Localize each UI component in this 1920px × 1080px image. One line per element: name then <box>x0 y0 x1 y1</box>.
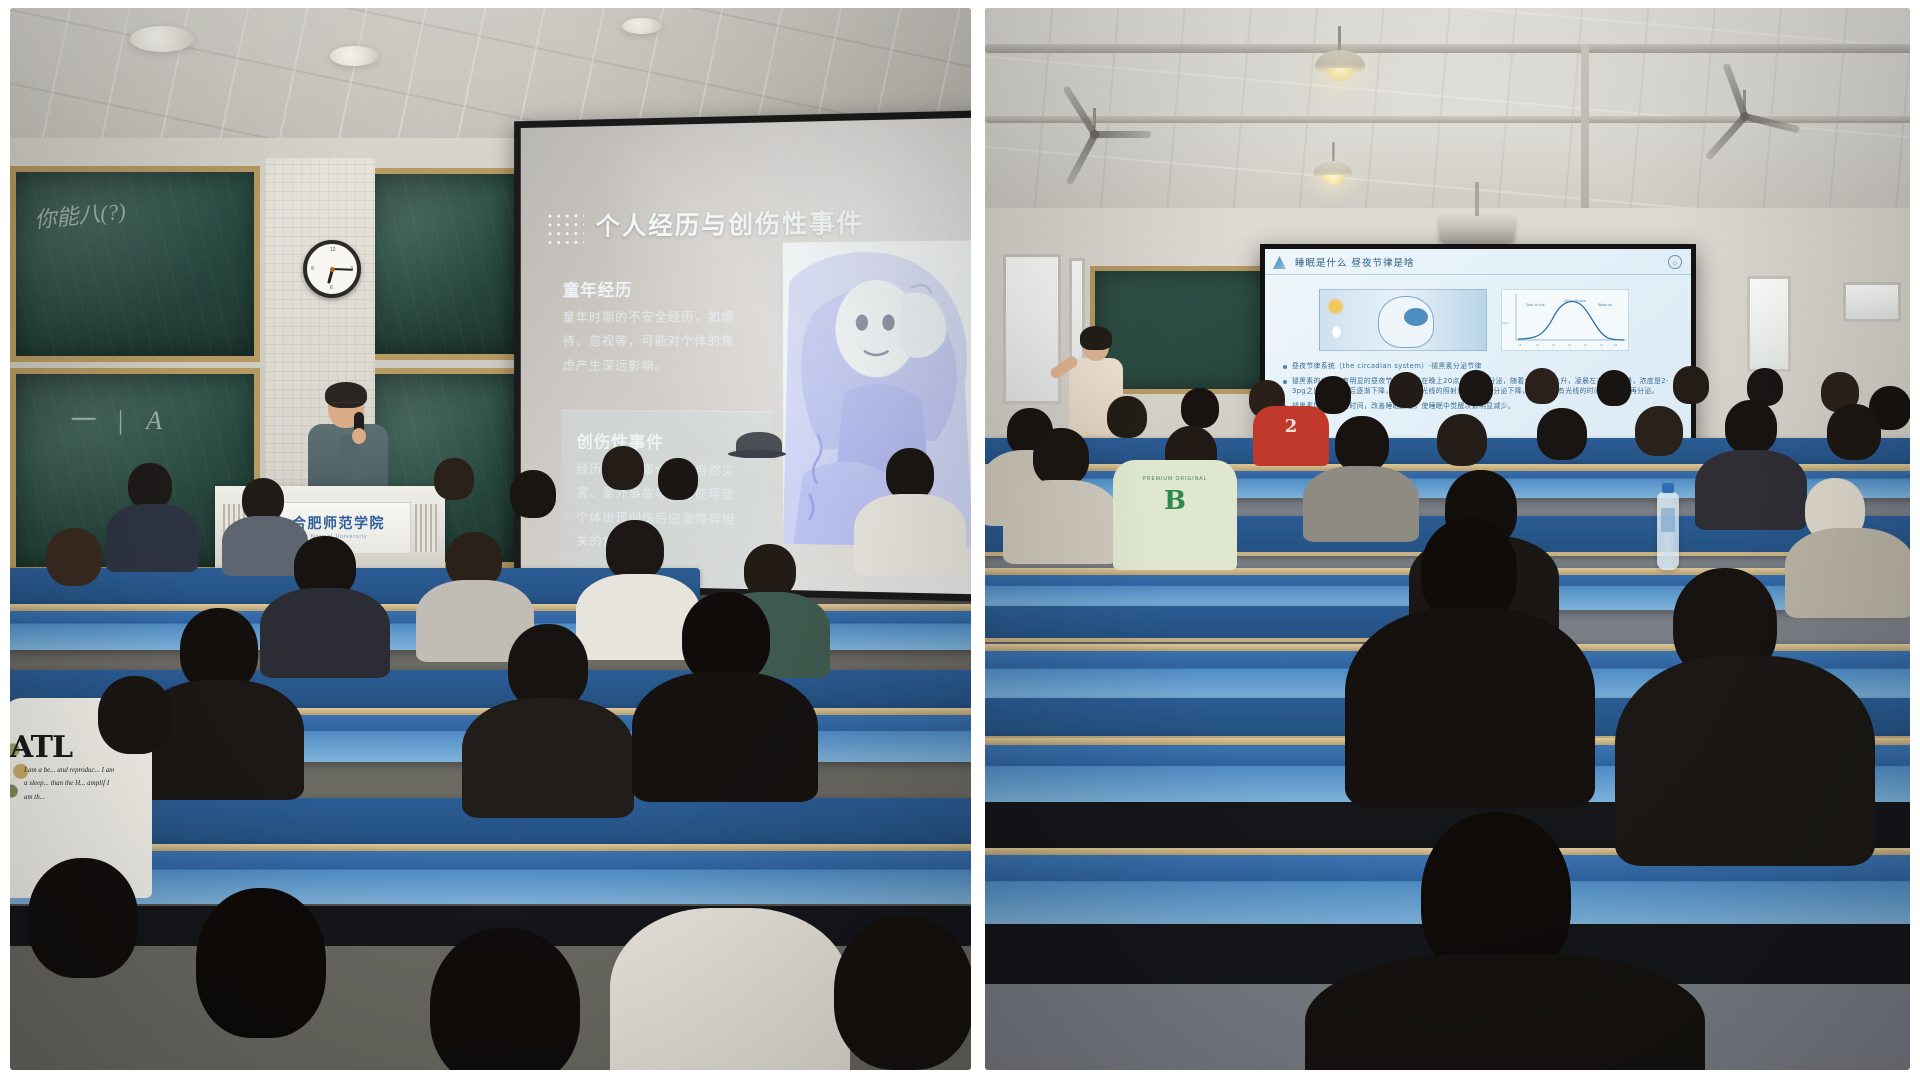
photo-collage: 你能八(?) 一 | A 12 3 6 9 个人经历与创伤性事件 童年经历 童年… <box>0 0 1920 1080</box>
wall-clock: 12 3 6 9 <box>303 240 361 298</box>
podium-institution-cn: 合肥师范学院 <box>292 517 385 531</box>
ceiling-light-icon <box>130 26 194 52</box>
window <box>1843 282 1901 322</box>
audience-body <box>1695 450 1807 530</box>
brain-icon <box>1404 308 1428 326</box>
audience-green-tee: PREMIUM ORIGINAL B <box>1113 460 1237 570</box>
chalkboard-left: 你能八(?) <box>10 166 260 362</box>
audience-head <box>196 888 326 1038</box>
melatonin-curve-chart: Start of rise Sleep window Wake-up 18202… <box>1501 289 1629 351</box>
bullet-text: 昼夜节律系统（the circadian system）-褪黑素分泌节律 <box>1292 361 1482 372</box>
slide-bullet: 昼夜节律系统（the circadian system）-褪黑素分泌节律 <box>1283 361 1683 372</box>
audience-head <box>1827 404 1881 460</box>
tshirt-gothic-text: ATL <box>10 730 72 765</box>
water-bottle <box>1657 492 1679 570</box>
audience-body <box>1785 528 1910 618</box>
audience-head <box>1315 376 1351 414</box>
audience-head <box>606 520 664 580</box>
audience-red-shirt: 2 <box>1253 406 1329 466</box>
audience-head <box>128 463 172 509</box>
right-photo: 睡眠是什么 昼夜节律是啥 ☼ Start of rise <box>985 8 1910 1070</box>
audience-head <box>1525 368 1559 404</box>
audience-head <box>98 676 172 754</box>
clock-center-pin <box>330 267 335 272</box>
slide-section-1-body: 童年时期的不安全经历，如虐待、忽视等，可能对个体的焦虑产生深远影响。 <box>563 305 737 378</box>
ceiling-light-icon <box>330 46 378 66</box>
pendant-lamp-icon <box>1315 26 1365 86</box>
audience-body <box>1303 466 1419 542</box>
svg-text:Start of rise: Start of rise <box>1526 303 1545 307</box>
tshirt-script-text: I am a be... and reproduc... I am a slee… <box>24 764 116 804</box>
svg-text:04: 04 <box>1600 343 1604 347</box>
audience-body <box>854 494 966 576</box>
audience-body <box>462 698 634 818</box>
circadian-illustration <box>1319 289 1487 351</box>
audience-body <box>610 908 850 1070</box>
audience-body-foreground <box>1305 954 1705 1070</box>
audience-head <box>682 592 770 684</box>
left-photo: 你能八(?) 一 | A 12 3 6 9 个人经历与创伤性事件 童年经历 童年… <box>10 8 971 1070</box>
audience-head <box>834 916 971 1070</box>
audience-body <box>260 588 390 678</box>
ceiling-fan-icon <box>1035 126 1155 142</box>
audience-head <box>28 858 138 978</box>
audience-head <box>430 928 580 1070</box>
audience-head <box>602 446 644 490</box>
audience-body-foreground <box>1345 608 1595 808</box>
chalk-note: 你能八(?) <box>33 193 127 234</box>
chalk-note: 一 | A <box>68 400 170 437</box>
tee-subtext: PREMIUM ORIGINAL <box>1143 476 1208 482</box>
audience-head <box>1181 388 1219 428</box>
audience-head <box>1725 400 1777 454</box>
slide-title: 睡眠是什么 昼夜节律是啥 <box>1295 255 1415 269</box>
audience-head <box>434 458 474 500</box>
clock-minute-hand <box>332 268 353 271</box>
svg-text:02: 02 <box>1584 343 1588 347</box>
audience-head <box>1437 414 1487 466</box>
tee-logo: B <box>1164 486 1186 516</box>
audience-head <box>1459 370 1493 406</box>
audience-head <box>1107 396 1147 438</box>
window <box>1003 254 1061 404</box>
sun-icon <box>1329 300 1342 313</box>
ceiling-fan-icon <box>1685 108 1805 124</box>
svg-text:pg/ml: pg/ml <box>1502 321 1510 325</box>
desk-row <box>10 844 971 904</box>
svg-text:Sleep window: Sleep window <box>1564 299 1586 303</box>
audience-body <box>106 504 198 572</box>
dot-grid-decoration <box>546 211 584 245</box>
pendant-lamp-icon <box>1316 142 1350 186</box>
audience-head <box>1537 408 1587 460</box>
window <box>1747 276 1791 372</box>
slide-section-1-heading: 童年经历 <box>563 276 633 301</box>
svg-text:22: 22 <box>1552 343 1556 347</box>
ceiling-projector <box>1440 216 1514 242</box>
slide-logo-icon: ☼ <box>1668 255 1682 269</box>
audience-body <box>1003 480 1119 564</box>
audience-head <box>658 458 698 500</box>
audience-head <box>1673 366 1709 404</box>
audience-body <box>632 672 818 802</box>
moon-icon <box>1329 326 1341 338</box>
audience-body-foreground <box>1615 656 1875 866</box>
ceiling-pipe <box>985 44 1910 53</box>
audience-head <box>886 448 934 500</box>
audience-head <box>1597 370 1631 406</box>
shirt-number: 2 <box>1285 416 1298 437</box>
svg-text:06: 06 <box>1614 343 1618 347</box>
audience-head <box>744 544 796 598</box>
slide-title: 个人经历与创伤性事件 <box>596 203 864 242</box>
svg-text:00: 00 <box>1568 343 1572 347</box>
audience-head <box>1635 406 1683 456</box>
audience-head <box>1033 428 1089 486</box>
ceiling-light-icon <box>622 18 662 34</box>
svg-text:Wake-up: Wake-up <box>1598 303 1612 307</box>
audience-cap <box>736 432 782 458</box>
chalkboard-right <box>362 168 522 360</box>
svg-text:18: 18 <box>1518 343 1522 347</box>
audience-head <box>1389 372 1423 408</box>
audience-head <box>510 470 556 518</box>
audience-head <box>1335 416 1389 472</box>
svg-text:20: 20 <box>1536 343 1540 347</box>
audience-head <box>46 528 102 586</box>
